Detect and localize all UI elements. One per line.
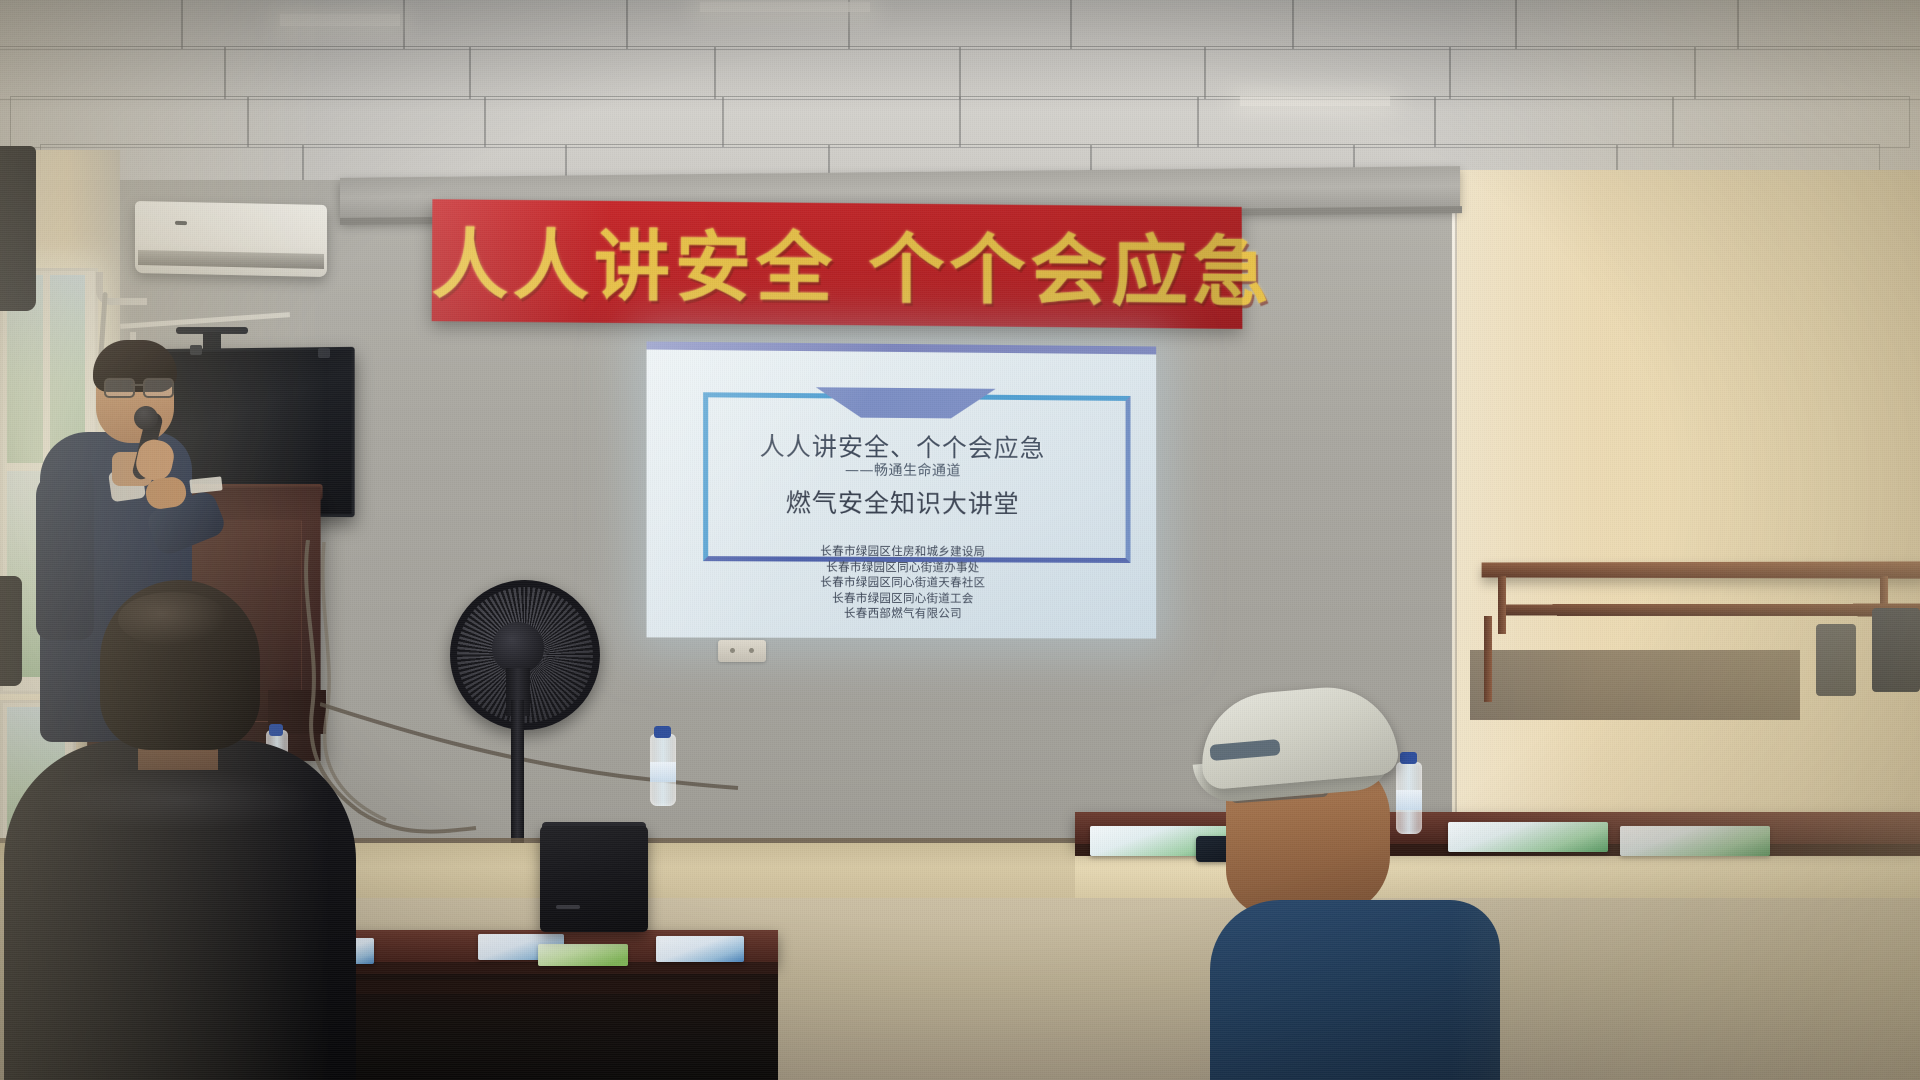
pamphlet bbox=[1620, 826, 1770, 856]
black-speaker-box bbox=[540, 826, 648, 932]
attendee-right-body bbox=[1210, 900, 1500, 1080]
back-furniture-shadow bbox=[1470, 650, 1800, 720]
pamphlet bbox=[656, 936, 744, 962]
bottle-label bbox=[650, 762, 676, 782]
chevron-down-icon bbox=[816, 387, 996, 419]
bottle-cap bbox=[269, 724, 283, 736]
slide-organization-list: 长春市绿园区住房和城乡建设局长春市绿园区同心街道办事处长春市绿园区同心街道天春社… bbox=[647, 543, 1157, 622]
corner-dark-object bbox=[0, 576, 22, 686]
tv-bracket-clip bbox=[318, 348, 330, 358]
slide-title-secondary: 燃气安全知识大讲堂 bbox=[647, 482, 1157, 521]
projection-screen: 人人讲安全、个个会应急 ——畅通生命通道 燃气安全知识大讲堂 长春市绿园区住房和… bbox=[647, 341, 1157, 638]
pamphlet bbox=[538, 944, 628, 966]
back-table bbox=[1506, 604, 1920, 617]
slide-subtitle: ——畅通生命通道 bbox=[647, 458, 1157, 481]
slide-organization-line: 长春市绿园区同心街道天春社区 bbox=[647, 574, 1157, 591]
back-table-leg bbox=[1498, 576, 1506, 634]
speaker-sleeve bbox=[36, 470, 94, 640]
attendee-front-hair-sheen bbox=[118, 592, 228, 646]
air-conditioner-indicator bbox=[175, 221, 187, 225]
pedestal-fan-hub bbox=[492, 622, 544, 674]
back-chair bbox=[1872, 608, 1920, 692]
wall-power-outlet[interactable] bbox=[718, 640, 766, 662]
slide-organization-line: 长春市绿园区同心街道工会 bbox=[647, 590, 1157, 607]
back-table-leg bbox=[1484, 616, 1492, 702]
corner-dark-object bbox=[0, 146, 36, 311]
banner-text: 人人讲安全 个个会应急 bbox=[432, 203, 1243, 321]
back-table bbox=[1482, 561, 1920, 578]
bottle-cap bbox=[654, 726, 671, 738]
attendee-front-highlight bbox=[40, 770, 320, 830]
black-device-slot bbox=[556, 905, 580, 909]
red-slogan-banner: 人人讲安全 个个会应急 bbox=[432, 199, 1243, 329]
meeting-room-photo: 人人讲安全 个个会应急 人人讲安全、个个会应急 ——畅通生命通道 燃气安全知识大… bbox=[0, 0, 1920, 1080]
tv-bracket-clip bbox=[190, 345, 202, 355]
pamphlet bbox=[1448, 822, 1608, 852]
back-chair bbox=[1816, 624, 1856, 696]
bottle-cap bbox=[1400, 752, 1417, 764]
front-desk-apron bbox=[330, 980, 760, 994]
bottle-label bbox=[1396, 790, 1422, 810]
slide-organization-line: 长春西部燃气有限公司 bbox=[647, 605, 1157, 622]
glasses-icon bbox=[104, 378, 170, 394]
